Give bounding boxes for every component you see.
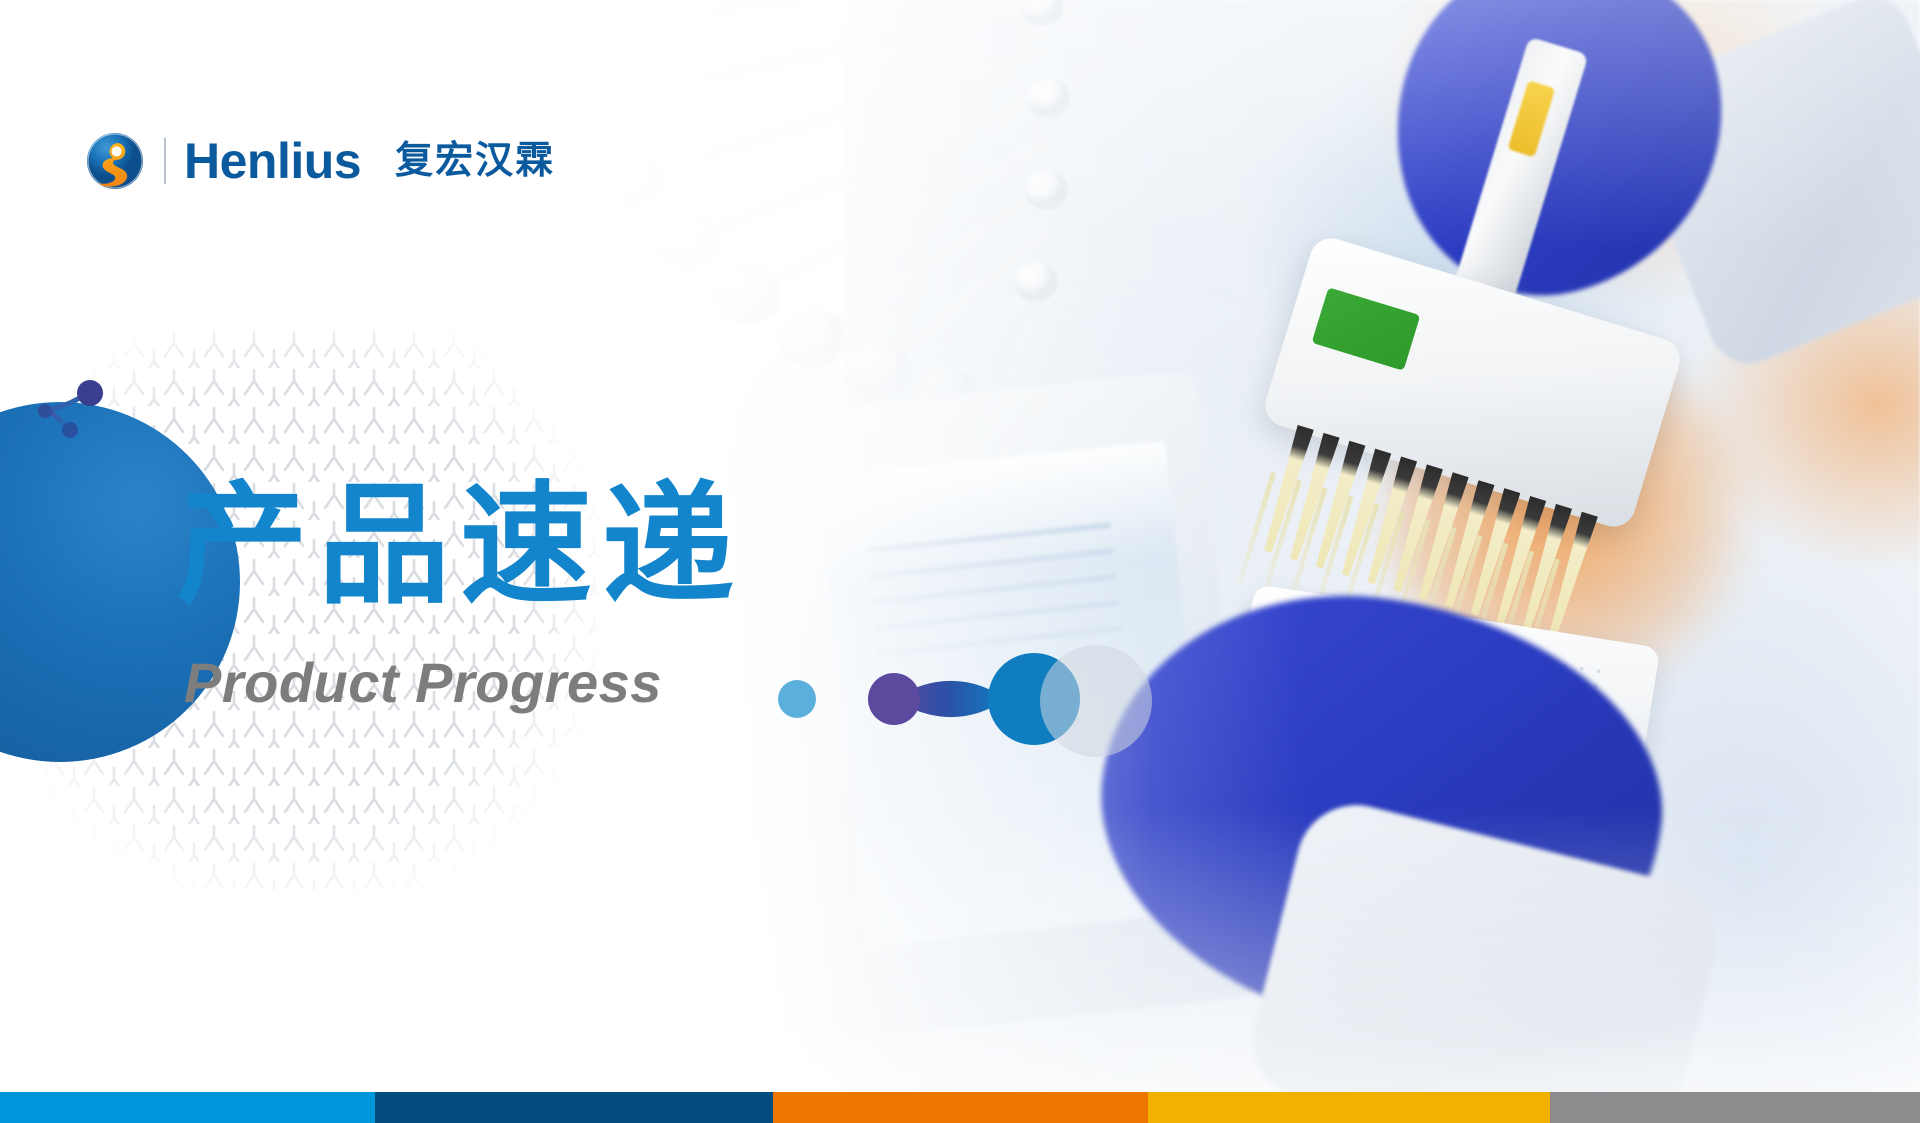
page-title-chinese: 产品速递: [176, 480, 744, 612]
logo-chinese-name: 复宏汉霖: [395, 142, 555, 180]
ghost-accent-circle: [1040, 645, 1152, 757]
bar-segment-light-blue: [0, 1092, 375, 1123]
henlius-logo[interactable]: Henlius 复宏汉霖: [86, 128, 555, 194]
bar-segment-amber: [1148, 1092, 1550, 1123]
logo-divider: [164, 138, 166, 184]
bar-segment-gray: [1550, 1092, 1920, 1123]
henlius-mark-icon: [86, 132, 144, 190]
cover-slide: Henlius 复宏汉霖 产品速递 Product Progress: [0, 0, 1920, 1123]
page-subtitle-english: Product Progress: [184, 655, 662, 711]
bottom-color-bar: [0, 1092, 1920, 1123]
bar-segment-navy: [375, 1092, 773, 1123]
cyan-accent-dot: [778, 680, 816, 718]
logo-wordmark: Henlius: [184, 136, 361, 186]
bar-segment-orange: [773, 1092, 1148, 1123]
molecule-node-icon-small: [30, 380, 110, 442]
